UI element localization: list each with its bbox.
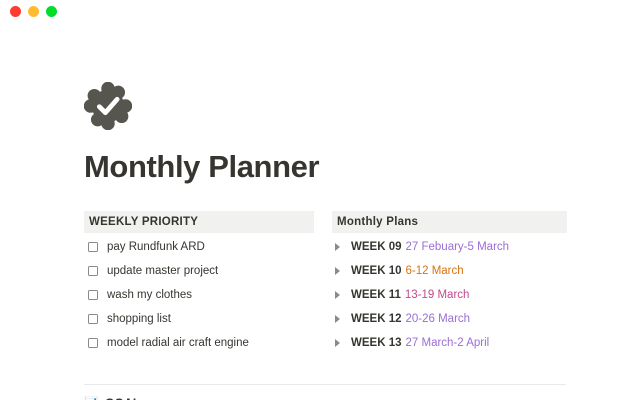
week-label: WEEK 09 [351, 241, 402, 253]
page-title: Monthly Planner [84, 149, 566, 185]
checkbox-icon[interactable] [88, 242, 98, 252]
page-content: Monthly Planner WEEKLY PRIORITY pay Rund… [0, 22, 640, 400]
checkbox-icon[interactable] [88, 314, 98, 324]
week-label: WEEK 12 [351, 313, 402, 325]
weekly-priority-column: WEEKLY PRIORITY pay Rundfunk ARD update … [84, 211, 314, 357]
check-badge-icon[interactable] [84, 82, 132, 130]
list-item[interactable]: update master project [84, 261, 314, 282]
chevron-right-icon[interactable] [335, 315, 340, 323]
chevron-right-icon[interactable] [335, 339, 340, 347]
checkbox-icon[interactable] [88, 290, 98, 300]
list-item[interactable]: WEEK 12 20-26 March [332, 309, 567, 330]
list-item-label: update master project [107, 265, 218, 277]
chart-emoji-icon: 📊 [84, 397, 99, 400]
list-item[interactable]: WEEK 11 13-19 March [332, 285, 567, 306]
chevron-right-icon[interactable] [335, 291, 340, 299]
week-date-range: 6-12 March [406, 265, 464, 277]
list-item[interactable]: WEEK 10 6-12 March [332, 261, 567, 282]
list-item[interactable]: pay Rundfunk ARD [84, 237, 314, 258]
weekly-priority-list: pay Rundfunk ARD update master project w… [84, 237, 314, 354]
week-date-range: 27 March-2 April [406, 337, 490, 349]
close-window-button[interactable] [10, 6, 21, 17]
section-divider [84, 384, 566, 385]
minimize-window-button[interactable] [28, 6, 39, 17]
goal-section-heading[interactable]: 📊 GOAL [84, 396, 566, 400]
list-item-label: model radial air craft engine [107, 337, 249, 349]
list-item[interactable]: shopping list [84, 309, 314, 330]
list-item-label: shopping list [107, 313, 171, 325]
chevron-right-icon[interactable] [335, 243, 340, 251]
week-label: WEEK 10 [351, 265, 402, 277]
monthly-plans-list: WEEK 09 27 Febuary-5 March WEEK 10 6-12 … [332, 237, 567, 354]
goal-label: GOAL [105, 396, 140, 400]
list-item-label: pay Rundfunk ARD [107, 241, 205, 253]
monthly-plans-column: Monthly Plans WEEK 09 27 Febuary-5 March… [332, 211, 567, 357]
chevron-right-icon[interactable] [335, 267, 340, 275]
weekly-priority-header: WEEKLY PRIORITY [84, 211, 314, 233]
week-label: WEEK 13 [351, 337, 402, 349]
list-item[interactable]: wash my clothes [84, 285, 314, 306]
week-label: WEEK 11 [351, 289, 401, 301]
window-titlebar [0, 0, 640, 22]
week-date-range: 20-26 March [406, 313, 471, 325]
monthly-plans-header: Monthly Plans [332, 211, 567, 233]
checkbox-icon[interactable] [88, 266, 98, 276]
list-item-label: wash my clothes [107, 289, 192, 301]
traffic-light-controls [10, 6, 57, 17]
list-item[interactable]: model radial air craft engine [84, 333, 314, 354]
list-item[interactable]: WEEK 13 27 March-2 April [332, 333, 567, 354]
week-date-range: 13-19 March [405, 289, 470, 301]
week-date-range: 27 Febuary-5 March [406, 241, 510, 253]
maximize-window-button[interactable] [46, 6, 57, 17]
board-columns: WEEKLY PRIORITY pay Rundfunk ARD update … [84, 211, 566, 357]
checkbox-icon[interactable] [88, 338, 98, 348]
list-item[interactable]: WEEK 09 27 Febuary-5 March [332, 237, 567, 258]
